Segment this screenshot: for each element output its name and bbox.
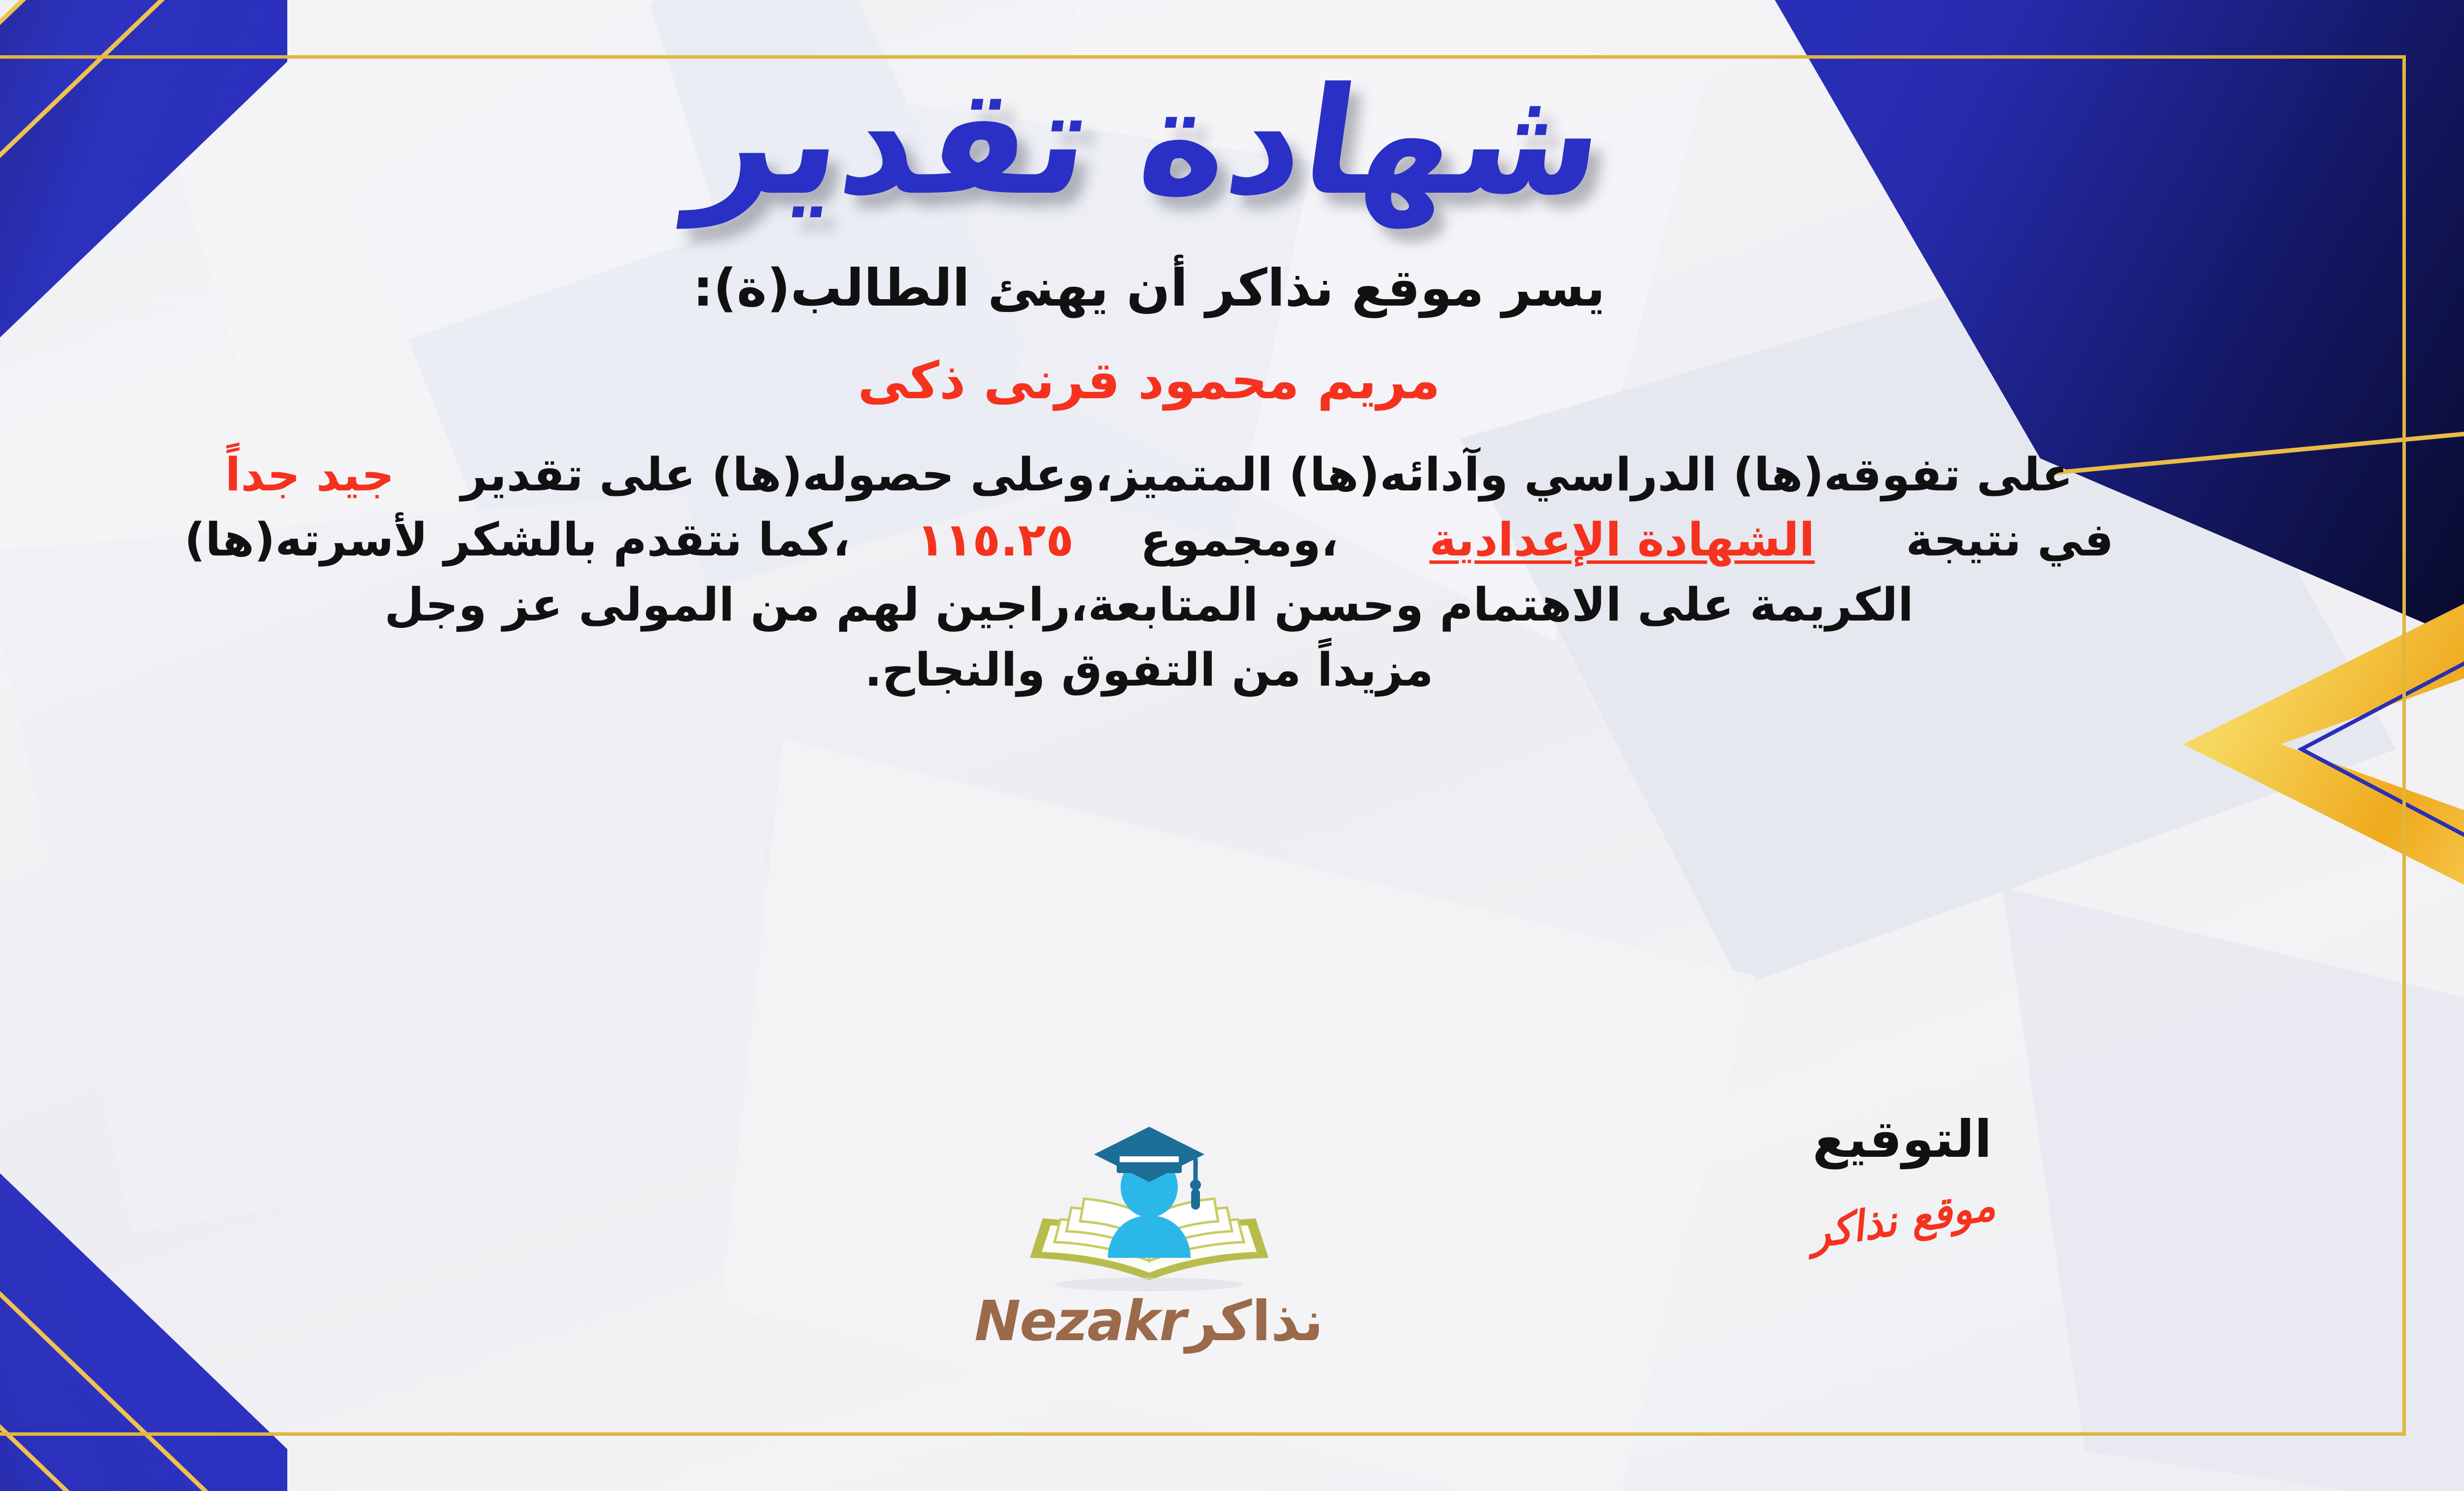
body-line-1-text: على تفوقه(ها) الدراسي وآدائه(ها) المتميز… bbox=[461, 448, 2073, 501]
certificate-page: شهادة تقدير يسر موقع نذاكر أن يهنئ الطال… bbox=[0, 0, 2464, 1491]
grade-value: جيد جداً bbox=[225, 448, 395, 501]
graduate-book-logo-icon bbox=[1011, 1109, 1287, 1296]
body-line-2-suffix: ،كما نتقدم بالشكر لأسرته(ها) bbox=[184, 513, 850, 566]
total-score: ١١٥.٢٥ bbox=[917, 513, 1074, 566]
body-line-4: مزيداً من التفوق والنجاح. bbox=[0, 637, 2337, 702]
logo-wordmark: Nezakrنذاكر bbox=[957, 1289, 1341, 1353]
body-line-1: على تفوقه(ها) الدراسي وآدائه(ها) المتميز… bbox=[0, 442, 2337, 507]
body-line-2-mid: ،ومجموع bbox=[1140, 513, 1338, 566]
exam-name: الشهادة الإعدادية bbox=[1430, 513, 1815, 566]
signature-handwriting: موقع نذاكر bbox=[1713, 1166, 2091, 1273]
logo-latin-name: Nezakr bbox=[974, 1289, 1185, 1353]
body-line-2-prefix: في نتيجة bbox=[1906, 513, 2114, 566]
site-logo: Nezakrنذاكر bbox=[957, 1109, 1341, 1353]
signature-block: التوقيع موقع نذاكر bbox=[1715, 1109, 2089, 1244]
body-line-3: الكريمة على الاهتمام وحسن المتابعة،راجين… bbox=[0, 572, 2337, 637]
logo-arabic-name: نذاكر bbox=[1186, 1289, 1324, 1353]
signature-label: التوقيع bbox=[1715, 1109, 2089, 1169]
certificate-body: على تفوقه(ها) الدراسي وآدائه(ها) المتميز… bbox=[0, 442, 2337, 702]
certificate-footer: التوقيع موقع نذاكر bbox=[0, 1109, 2464, 1424]
body-line-2: في نتيجة الشهادة الإعدادية ،ومجموع ١١٥.٢… bbox=[0, 507, 2337, 572]
student-name: مريم محمود قرنى ذكى bbox=[857, 350, 1440, 411]
greeting-line: يسر موقع نذاكر أن يهنئ الطالب(ة): bbox=[693, 258, 1605, 318]
certificate-title: شهادة تقدير bbox=[684, 64, 1614, 219]
